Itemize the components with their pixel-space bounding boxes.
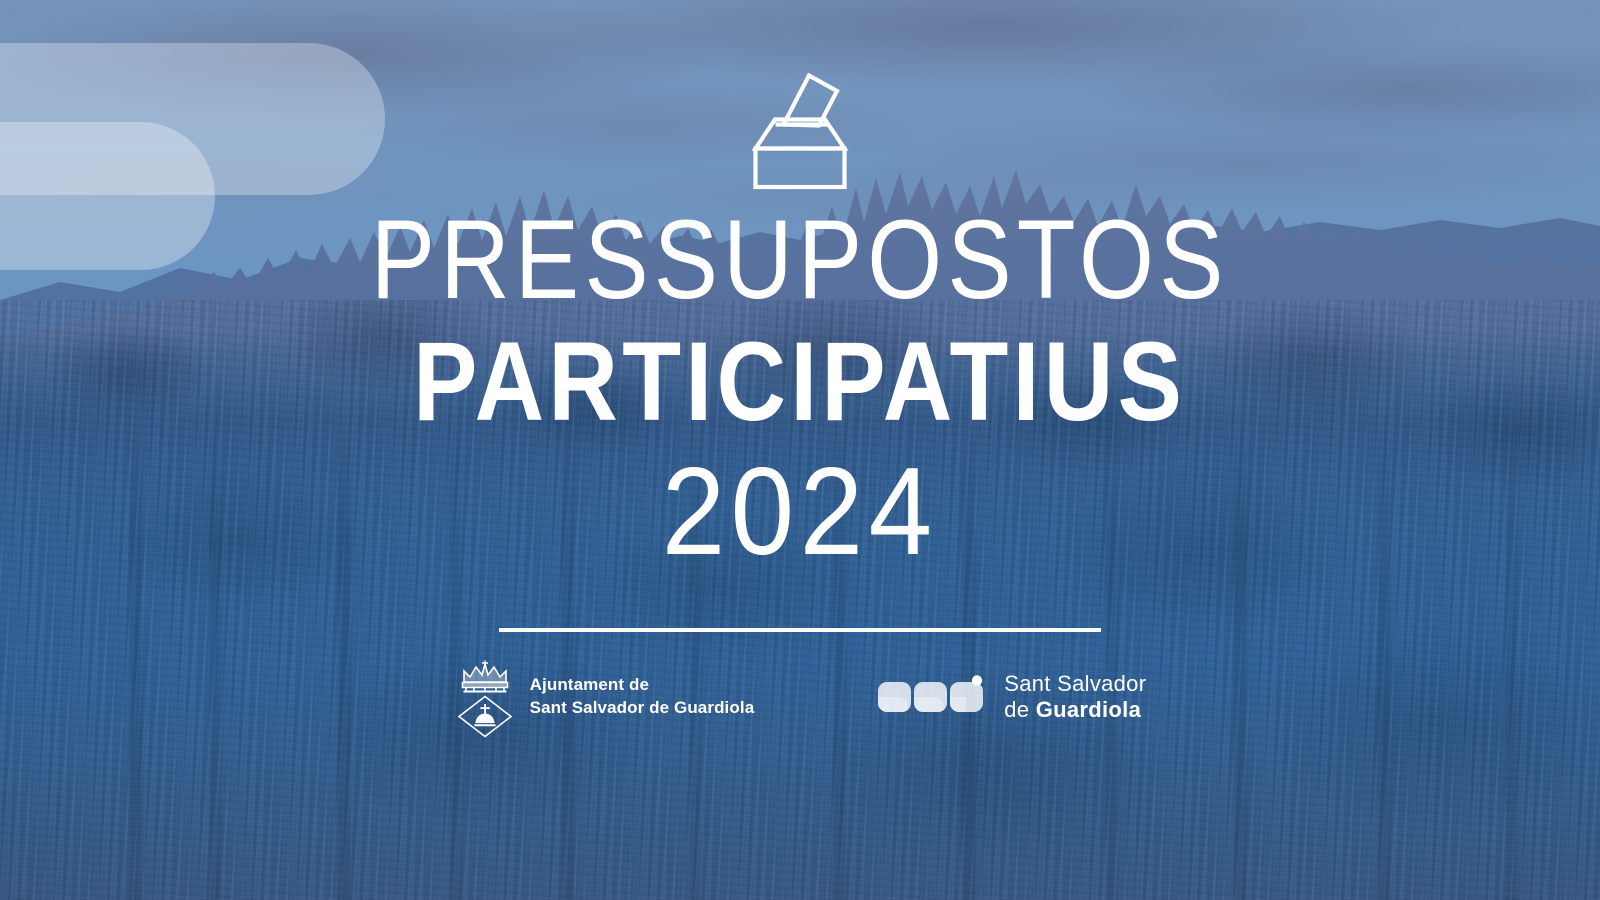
ssg-line-2-bold: Guardiola	[1036, 697, 1141, 722]
ssg-logo: Sant Salvador de Guardiola	[878, 671, 1146, 723]
ssg-line-2-prefix: de	[1004, 697, 1035, 722]
page-title-line-2: PARTICIPATIUS	[371, 326, 1229, 438]
title-block: PRESSUPOSTOS PARTICIPATIUS 2024	[301, 204, 1298, 574]
divider-rule	[499, 628, 1101, 632]
ballot-box-icon	[741, 62, 859, 190]
logo-row: Ajuntament de Sant Salvador de Guardiola	[454, 656, 1147, 738]
ajuntament-line-2: Sant Salvador de Guardiola	[530, 697, 755, 720]
ajuntament-logo-text: Ajuntament de Sant Salvador de Guardiola	[530, 674, 755, 719]
ssg-line-2: de Guardiola	[1004, 697, 1146, 723]
ssg-monogram-icon	[878, 674, 990, 720]
ajuntament-line-1: Ajuntament de	[530, 674, 755, 697]
page-title-line-1: PRESSUPOSTOS	[371, 204, 1229, 316]
page-title-year: 2024	[341, 450, 1259, 574]
ssg-line-1: Sant Salvador	[1004, 671, 1146, 697]
ssg-logo-text: Sant Salvador de Guardiola	[1004, 671, 1146, 723]
poster-content: PRESSUPOSTOS PARTICIPATIUS 2024	[0, 0, 1600, 900]
crown-and-shield-crest-icon	[454, 656, 516, 738]
ajuntament-logo: Ajuntament de Sant Salvador de Guardiola	[454, 656, 755, 738]
poster-canvas: PRESSUPOSTOS PARTICIPATIUS 2024	[0, 0, 1600, 900]
